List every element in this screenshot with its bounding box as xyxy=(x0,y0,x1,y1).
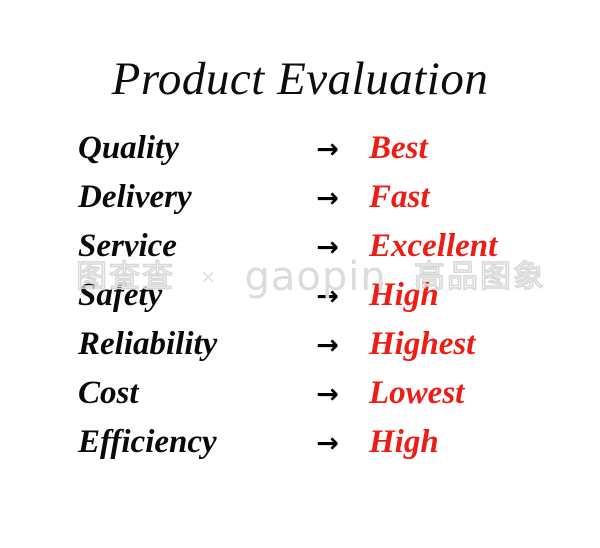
table-row: Efficiency → High xyxy=(78,422,548,471)
criterion-label-service: Service xyxy=(78,226,290,266)
image-canvas: Product Evaluation Quality → Best Delive… xyxy=(0,0,600,548)
arrow-right-icon: → xyxy=(290,228,365,268)
criterion-label-delivery: Delivery xyxy=(78,177,290,217)
criterion-value-cost: Lowest xyxy=(365,373,548,413)
criterion-value-service: Excellent xyxy=(365,226,548,266)
table-row: Quality → Best xyxy=(78,128,548,177)
arrow-right-icon: → xyxy=(290,130,365,170)
criterion-value-efficiency: High xyxy=(365,422,548,462)
criterion-value-delivery: Fast xyxy=(365,177,548,217)
evaluation-table: Quality → Best Delivery → Fast Service →… xyxy=(78,128,548,471)
table-row: Safety → High xyxy=(78,275,548,324)
criterion-value-quality: Best xyxy=(365,128,548,168)
table-row: Cost → Lowest xyxy=(78,373,548,422)
arrow-right-icon: → xyxy=(290,326,365,366)
criterion-label-efficiency: Efficiency xyxy=(78,422,290,462)
arrow-right-icon: → xyxy=(290,179,365,219)
criterion-value-reliability: Highest xyxy=(365,324,548,364)
arrow-right-icon: → xyxy=(290,424,365,464)
table-row: Reliability → Highest xyxy=(78,324,548,373)
table-row: Delivery → Fast xyxy=(78,177,548,226)
arrow-right-icon: → xyxy=(290,375,365,415)
arrow-right-icon: → xyxy=(290,277,365,317)
criterion-value-safety: High xyxy=(365,275,548,315)
criterion-label-reliability: Reliability xyxy=(78,324,290,364)
criterion-label-quality: Quality xyxy=(78,128,290,168)
page-title: Product Evaluation xyxy=(0,52,600,106)
criterion-label-safety: Safety xyxy=(78,275,290,315)
criterion-label-cost: Cost xyxy=(78,373,290,413)
table-row: Service → Excellent xyxy=(78,226,548,275)
